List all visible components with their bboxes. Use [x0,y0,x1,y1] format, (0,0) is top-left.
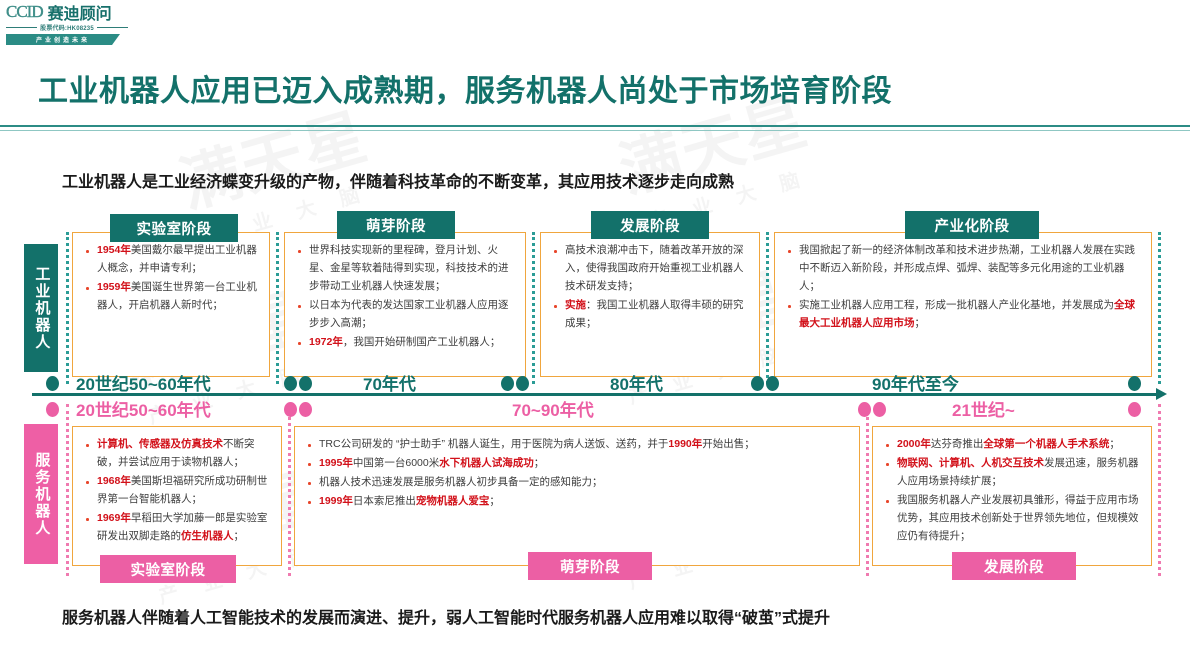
stage-badge-service-1[interactable]: 实验室阶段 [100,555,236,583]
bullet-highlight-text: 1972年 [309,336,343,348]
bullet-item: TRC公司研发的 “护士助手” 机器人诞生，用于医院为病人送饭、送药，并于199… [303,435,851,453]
bullet-highlight-text: 实施 [565,299,586,311]
bullet-item: 物联网、计算机、人机交互技术发展迅速，服务机器人应用场景持续扩展； [881,454,1143,490]
timeline-label-service-3: 21世纪~ [952,396,1015,421]
bullet-text: TRC公司研发的 “护士助手” 机器人诞生，用于医院为病人送饭、送药，并于 [319,438,668,450]
stage-bullets: 高技术浪潮冲击下，随着改革开放的深入，使得我国政府开始重视工业机器人技术研发支持… [549,241,751,332]
column-separator [866,404,869,576]
bullet-text: 高技术浪潮冲击下，随着改革开放的深入，使得我国政府开始重视工业机器人技术研发支持… [565,244,744,292]
logo-company-name: 赛迪顾问 [48,0,112,24]
bullet-highlight-text: 2000年 [897,438,931,450]
logo-rule-left [6,27,37,28]
timeline-marker [751,376,764,391]
bullet-text: ； [1109,438,1120,450]
bullet-highlight-text: 水下机器人试海成功 [439,457,534,469]
footer-summary: 服务机器人伴随着人工智能技术的发展而演进、提升，弱人工智能时代服务机器人应用难以… [62,604,830,628]
bullet-text: 日本索尼推出 [353,495,416,507]
bullet-item: 实施工业机器人应用工程，形成一批机器人产业化基地，并发展成为全球最大工业机器人应… [783,296,1143,332]
logo-mark: CCID [6,2,43,22]
bullet-item: 1972年，我国开始研制国产工业机器人； [293,333,517,351]
logo-stock-code: 股票代码:HK08235 [40,23,94,32]
bullet-text: 开始出售； [702,438,755,450]
column-separator [288,404,291,576]
row-label-industrial-robots: 工业机器人 [24,244,58,372]
stage-badge-label: 实验室阶段 [131,559,206,580]
stage-card-service-2: TRC公司研发的 “护士助手” 机器人诞生，用于医院为病人送饭、送药，并于199… [294,426,860,566]
stage-bullets: 我国掀起了新一的经济体制改革和技术进步热潮，工业机器人发展在实践中不断迈入新阶段… [783,241,1143,332]
timeline-marker [284,376,297,391]
timeline-marker [873,402,886,417]
bullet-text: ； [489,495,500,507]
bullet-item: 我国掀起了新一的经济体制改革和技术进步热潮，工业机器人发展在实践中不断迈入新阶段… [783,241,1143,295]
bullet-text: ； [234,530,245,542]
stage-badge-label: 实验室阶段 [137,218,212,239]
bullet-item: 1995年中国第一台6000米水下机器人试海成功； [303,454,851,472]
timeline-label-industrial-1: 20世纪50~60年代 [76,370,211,395]
timeline-label-service-2: 70~90年代 [512,396,594,421]
bullet-item: 1969年早稻田大学加藤一郎是实验室研发出双脚走路的仿生机器人； [81,509,273,545]
bullet-text: ； [915,317,926,329]
subtitle: 工业机器人是工业经济蝶变升级的产物，伴随着科技革命的不断变革，其应用技术逐步走向… [62,168,734,192]
bullet-text: ，我国开始研制国产工业机器人； [343,336,501,348]
stage-badge-label: 产业化阶段 [935,215,1010,236]
bullet-text: 我国服务机器人产业发展初具雏形，得益于应用市场优势，其应用技术创新处于世界领先地… [897,494,1139,542]
bullet-text: 中国第一台6000米 [353,457,439,469]
page-title: 工业机器人应用已迈入成熟期，服务机器人尚处于市场培育阶段 [38,66,892,110]
company-logo: CCID 赛迪顾问 股票代码:HK08235 产业创造未来 [4,2,128,42]
column-separator [66,404,69,576]
timeline-arrow-head [1156,388,1167,400]
bullet-item: 2000年达芬奇推出全球第一个机器人手术系统； [881,435,1143,453]
bullet-item: 1954年美国戴尔最早提出工业机器人概念，并申请专利； [81,241,261,277]
bullet-text: 机器人技术迅速发展是服务机器人初步具备一定的感知能力； [319,476,603,488]
timeline-marker [284,402,297,417]
timeline-marker [46,402,59,417]
bullet-highlight-text: 仿生机器人 [181,530,234,542]
timeline-marker [1128,376,1141,391]
logo-tagline-ribbon: 产业创造未来 [6,34,120,45]
stage-card-industrial-4: 我国掀起了新一的经济体制改革和技术进步热潮，工业机器人发展在实践中不断迈入新阶段… [774,232,1152,377]
bullet-highlight-text: 1959年 [97,281,131,293]
bullet-item: 实施：我国工业机器人取得丰硕的研究成果； [549,296,751,332]
column-separator [766,232,769,384]
timeline-marker [516,376,529,391]
bullet-item: 高技术浪潮冲击下，随着改革开放的深入，使得我国政府开始重视工业机器人技术研发支持… [549,241,751,295]
bullet-highlight-text: 1954年 [97,244,131,256]
stage-badge-industrial-4[interactable]: 产业化阶段 [905,211,1039,239]
row-label-service-robots: 服务机器人 [24,424,58,564]
bullet-item: 1968年美国斯坦福研究所成功研制世界第一台智能机器人； [81,472,273,508]
stage-badge-industrial-3[interactable]: 发展阶段 [591,211,709,239]
bullet-highlight-text: 全球第一个机器人手术系统 [983,438,1109,450]
stage-badge-label: 发展阶段 [984,556,1044,577]
stage-badge-industrial-1[interactable]: 实验室阶段 [110,214,238,242]
timeline-label-industrial-2: 70年代 [363,370,416,395]
bullet-text: ； [534,457,545,469]
column-separator [276,232,279,384]
bullet-text: 世界科技实现新的里程碑，登月计划、火星、金星等软着陆得到实现，科技技术的进步带动… [309,244,509,292]
column-separator [532,232,535,384]
bullet-item: 以日本为代表的发达国家工业机器人应用逐步步入高潮； [293,296,517,332]
stage-bullets: 2000年达芬奇推出全球第一个机器人手术系统；物联网、计算机、人机交互技术发展迅… [881,435,1143,545]
bullet-highlight-text: 计算机、传感器及仿真技术 [97,438,223,450]
title-divider [0,125,1190,127]
timeline-marker [46,376,59,391]
timeline-marker [299,376,312,391]
row-label-industrial-text: 工业机器人 [33,266,50,351]
bullet-text: 实施工业机器人应用工程，形成一批机器人产业化基地，并发展成为 [799,299,1114,311]
stage-badge-service-3[interactable]: 发展阶段 [952,552,1076,580]
timeline-marker [858,402,871,417]
stage-card-service-3: 2000年达芬奇推出全球第一个机器人手术系统；物联网、计算机、人机交互技术发展迅… [872,426,1152,566]
stage-badge-industrial-2[interactable]: 萌芽阶段 [337,211,455,239]
bullet-highlight-text: 1995年 [319,457,353,469]
stage-badge-label: 萌芽阶段 [366,215,426,236]
timeline-marker [501,376,514,391]
bullet-item: 1999年日本索尼推出宠物机器人爱宝； [303,492,851,510]
bullet-item: 计算机、传感器及仿真技术不断突破，并尝试应用于读物机器人； [81,435,273,471]
stage-card-service-1: 计算机、传感器及仿真技术不断突破，并尝试应用于读物机器人；1968年美国斯坦福研… [72,426,282,566]
stage-bullets: 1954年美国戴尔最早提出工业机器人概念，并申请专利；1959年美国诞生世界第一… [81,241,261,314]
title-divider-light [0,130,1190,131]
bullet-highlight-text: 1990年 [668,438,702,450]
timeline-label-industrial-3: 80年代 [610,370,663,395]
bullet-text: 我国掀起了新一的经济体制改革和技术进步热潮，工业机器人发展在实践中不断迈入新阶段… [799,244,1135,292]
stage-badge-label: 萌芽阶段 [560,556,620,577]
stage-bullets: TRC公司研发的 “护士助手” 机器人诞生，用于医院为病人送饭、送药，并于199… [303,435,851,510]
bullet-highlight-text: 物联网、计算机、人机交互技术 [897,457,1044,469]
bullet-item: 1959年美国诞生世界第一台工业机器人，开启机器人新时代； [81,278,261,314]
stage-bullets: 世界科技实现新的里程碑，登月计划、火星、金星等软着陆得到实现，科技技术的进步带动… [293,241,517,351]
column-separator [1158,404,1161,576]
column-separator [66,232,69,384]
stage-bullets: 计算机、传感器及仿真技术不断突破，并尝试应用于读物机器人；1968年美国斯坦福研… [81,435,273,545]
bullet-highlight-text: 1968年 [97,475,131,487]
stage-card-industrial-1: 1954年美国戴尔最早提出工业机器人概念，并申请专利；1959年美国诞生世界第一… [72,232,270,377]
timeline-label-industrial-4: 90年代至今 [872,370,959,395]
bullet-item: 世界科技实现新的里程碑，登月计划、火星、金星等软着陆得到实现，科技技术的进步带动… [293,241,517,295]
timeline-marker [299,402,312,417]
timeline-marker [1128,402,1141,417]
bullet-item: 我国服务机器人产业发展初具雏形，得益于应用市场优势，其应用技术创新处于世界领先地… [881,491,1143,545]
timeline-label-service-1: 20世纪50~60年代 [76,396,211,421]
slide-page: 满天星产 业 大 脑 满天星产 业 大 脑 满天星产 业 大 脑 满天星产 业 … [0,0,1190,669]
bullet-highlight-text: 宠物机器人爱宝 [416,495,490,507]
stage-card-industrial-2: 世界科技实现新的里程碑，登月计划、火星、金星等软着陆得到实现，科技技术的进步带动… [284,232,526,377]
bullet-highlight-text: 1999年 [319,495,353,507]
bullet-highlight-text: 1969年 [97,512,131,524]
bullet-item: 机器人技术迅速发展是服务机器人初步具备一定的感知能力； [303,473,851,491]
bullet-text: ：我国工业机器人取得丰硕的研究成果； [565,299,744,329]
row-label-service-text: 服务机器人 [33,452,50,537]
bullet-text: 以日本为代表的发达国家工业机器人应用逐步步入高潮； [309,299,509,329]
stage-card-industrial-3: 高技术浪潮冲击下，随着改革开放的深入，使得我国政府开始重视工业机器人技术研发支持… [540,232,760,377]
timeline-marker [766,376,779,391]
column-separator [1158,232,1161,384]
logo-rule-right [97,27,128,28]
stage-badge-label: 发展阶段 [620,215,680,236]
stage-badge-service-2[interactable]: 萌芽阶段 [528,552,652,580]
bullet-text: 达芬奇推出 [931,438,984,450]
